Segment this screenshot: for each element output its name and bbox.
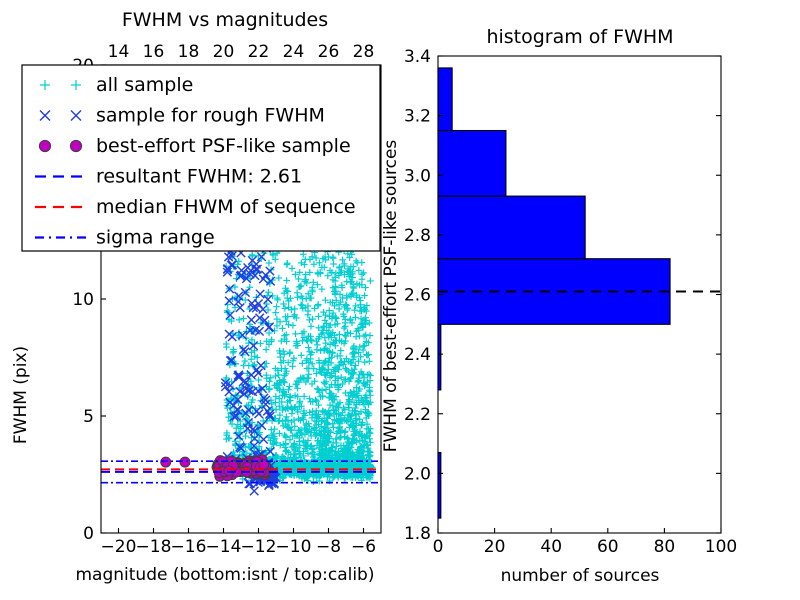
legend-item-label: resultant FWHM: 2.61 [96,166,302,188]
figure-canvas: −20−18−16−14−12−10−8−6141618202224262805… [0,0,800,600]
right-panel-histogram: 0204060801001.82.02.22.42.62.83.03.23.4 … [381,26,737,586]
legend-box [22,65,380,251]
left-panel-xlabel: magnitude (bottom:isnt / top:calib) [76,565,375,585]
legend-item-label: sigma range [96,227,215,249]
legend-item-label: sample for rough FWHM [96,105,325,127]
histogram-bar [438,196,585,259]
histogram-bar [438,131,506,197]
legend-item-label: best-effort PSF-like sample [96,135,351,157]
legend[interactable]: all samplesample for rough FWHMbest-effo… [22,65,380,251]
right-panel-xlabel: number of sources [501,566,660,586]
legend-item-label: all sample [96,74,193,96]
matplotlib-figure: −20−18−16−14−12−10−8−6141618202224262805… [0,0,800,600]
left-panel-ylabel: FWHM (pix) [11,346,31,444]
right-panel-ylabel: FWHM of best-effort PSF-like sources [381,140,401,453]
histogram-bars-layer [438,68,670,518]
histogram-bar [438,68,452,131]
right-panel-title: histogram of FWHM [486,26,673,48]
series-best-effort-psf-like-sample [161,455,271,482]
left-panel-title: FWHM vs magnitudes [122,9,328,31]
legend-item-label: median FHWM of sequence [96,196,356,218]
